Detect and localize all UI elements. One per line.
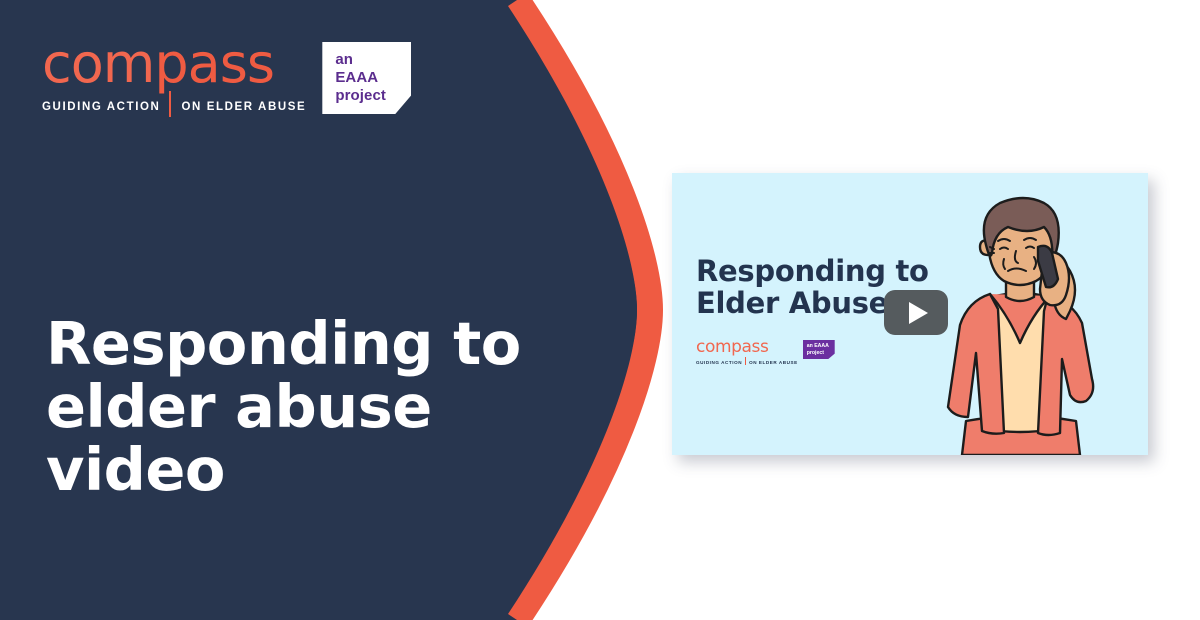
- thumbnail-badge-line2: project: [807, 350, 831, 357]
- thumbnail-tagline-right: ON ELDER ABUSE: [749, 360, 798, 365]
- thumbnail-tagline-left: GUIDING ACTION: [696, 360, 742, 365]
- thumbnail-logo-mark: compass GUIDING ACTION ON ELDER ABUSE: [696, 339, 798, 366]
- thumbnail-wordmark-part1: com: [696, 337, 731, 357]
- illustration-svg: [920, 193, 1120, 455]
- page-title-line1: Responding to: [46, 309, 521, 378]
- compass-wordmark-part2: pass: [154, 32, 274, 95]
- compass-tagline: GUIDING ACTION ON ELDER ABUSE: [42, 94, 306, 120]
- video-thumbnail-card[interactable]: Responding to Elder Abuse compass GUIDIN…: [672, 173, 1148, 455]
- thumbnail-compass-logo: compass GUIDING ACTION ON ELDER ABUSE an…: [696, 339, 835, 366]
- compass-wordmark: compass: [42, 38, 306, 89]
- compass-tagline-right: ON ELDER ABUSE: [181, 101, 306, 113]
- tagline-divider: [169, 91, 171, 117]
- eaaa-badge-line1: an EAAA: [335, 51, 399, 87]
- compass-wordmark-part1: com: [42, 32, 154, 95]
- older-woman-on-phone-illustration: [920, 193, 1120, 455]
- thumbnail-wordmark-part2: pass: [731, 337, 768, 357]
- eaaa-project-badge: an EAAA project: [322, 42, 411, 114]
- thumbnail-tagline-divider: [745, 357, 746, 365]
- thumbnail-title-line1: Responding to: [696, 254, 929, 288]
- page-root: compass GUIDING ACTION ON ELDER ABUSE an…: [0, 0, 1200, 620]
- thumbnail-eaaa-badge: an EAAA project: [803, 340, 835, 359]
- thumbnail-compass-wordmark: compass: [696, 339, 798, 355]
- compass-logo[interactable]: compass GUIDING ACTION ON ELDER ABUSE an…: [42, 38, 411, 120]
- compass-logo-mark: compass GUIDING ACTION ON ELDER ABUSE: [42, 38, 306, 120]
- page-title: Responding to elder abuse video: [46, 312, 606, 501]
- compass-tagline-left: GUIDING ACTION: [42, 101, 160, 113]
- thumbnail-badge-line1: an EAAA: [807, 343, 831, 350]
- thumbnail-compass-tagline: GUIDING ACTION ON ELDER ABUSE: [696, 358, 798, 366]
- eaaa-badge-line2: project: [335, 87, 399, 105]
- page-title-line2: elder abuse video: [46, 375, 606, 501]
